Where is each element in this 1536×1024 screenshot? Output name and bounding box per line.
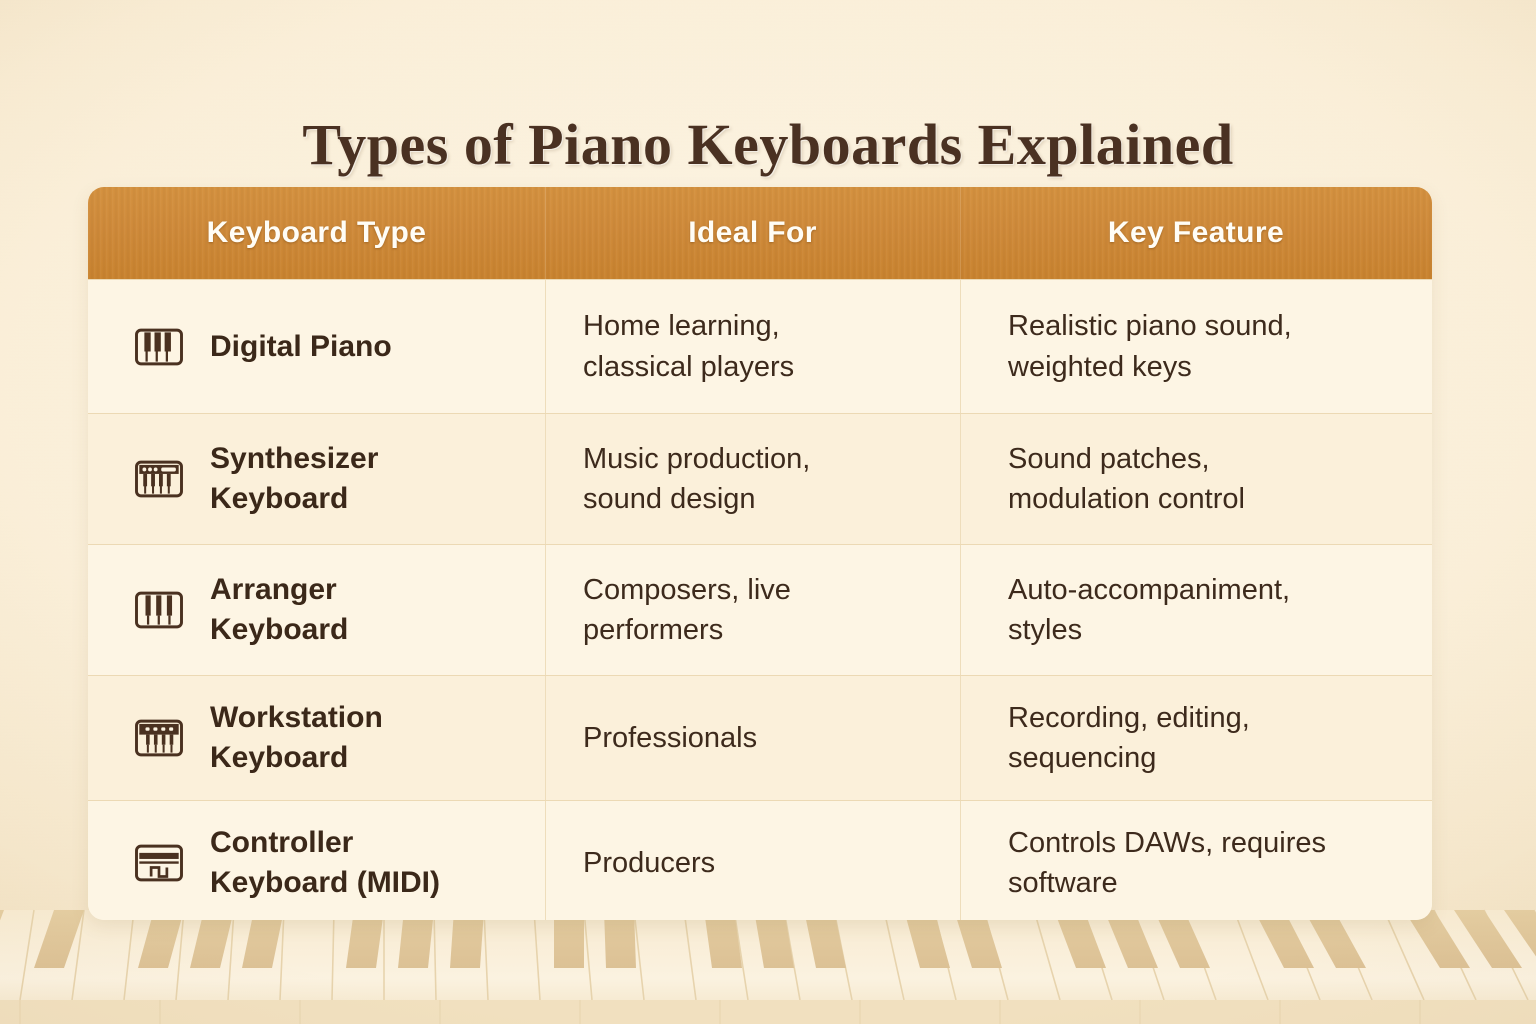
- cell-keyboard-type: Synthesizer Keyboard: [88, 414, 545, 544]
- table-row: Workstation Keyboard Professionals Recor…: [88, 675, 1432, 800]
- keyboard-type-label: Digital Piano: [210, 327, 392, 367]
- cell-divider-2: [960, 280, 961, 413]
- key-feature-text: Recording, editing, sequencing: [1008, 698, 1250, 778]
- page-title: Types of Piano Keyboards Explained: [0, 111, 1536, 178]
- table-row: Synthesizer Keyboard Music production, s…: [88, 413, 1432, 544]
- ideal-for-text: Home learning, classical players: [583, 306, 794, 386]
- cell-key-feature: Controls DAWs, requires software: [960, 801, 1432, 920]
- keyboard-type-label: Synthesizer Keyboard: [210, 439, 378, 518]
- cell-keyboard-type: Controller Keyboard (MIDI): [88, 801, 545, 920]
- cell-key-feature: Auto-accompaniment, styles: [960, 545, 1432, 675]
- table-row: Arranger Keyboard Composers, live perfor…: [88, 544, 1432, 675]
- cell-ideal-for: Producers: [545, 801, 960, 920]
- cell-divider-1: [545, 545, 546, 675]
- workstation-keyboard-icon: [132, 711, 186, 765]
- cell-divider-2: [960, 414, 961, 544]
- key-feature-text: Realistic piano sound, weighted keys: [1008, 306, 1292, 386]
- cell-ideal-for: Home learning, classical players: [545, 280, 960, 413]
- cell-keyboard-type: Digital Piano: [88, 280, 545, 413]
- cell-key-feature: Recording, editing, sequencing: [960, 676, 1432, 800]
- key-feature-text: Sound patches, modulation control: [1008, 439, 1245, 519]
- ideal-for-text: Professionals: [583, 718, 757, 758]
- keyboard-type-label: Arranger Keyboard: [210, 570, 348, 649]
- cell-divider-1: [545, 280, 546, 413]
- cell-ideal-for: Composers, live performers: [545, 545, 960, 675]
- cell-key-feature: Realistic piano sound, weighted keys: [960, 280, 1432, 413]
- cell-divider-2: [960, 801, 961, 920]
- column-header-ideal-for: Ideal For: [545, 187, 960, 279]
- table-header-row: Keyboard Type Ideal For Key Feature: [88, 187, 1432, 279]
- arranger-keyboard-icon: [132, 583, 186, 637]
- table-row: Controller Keyboard (MIDI) Producers Con…: [88, 800, 1432, 920]
- keyboard-type-label: Workstation Keyboard: [210, 698, 383, 777]
- ideal-for-text: Music production, sound design: [583, 439, 810, 519]
- piano-keyboard-icon: [132, 320, 186, 374]
- keyboard-type-label: Controller Keyboard (MIDI): [210, 823, 440, 902]
- cell-divider-1: [545, 801, 546, 920]
- cell-divider-1: [545, 414, 546, 544]
- key-feature-text: Auto-accompaniment, styles: [1008, 570, 1290, 650]
- key-feature-text: Controls DAWs, requires software: [1008, 823, 1326, 903]
- column-header-key-feature: Key Feature: [960, 187, 1432, 279]
- cell-keyboard-type: Arranger Keyboard: [88, 545, 545, 675]
- cell-key-feature: Sound patches, modulation control: [960, 414, 1432, 544]
- ideal-for-text: Producers: [583, 843, 715, 883]
- header-divider-1: [545, 187, 546, 279]
- table-row: Digital Piano Home learning, classical p…: [88, 279, 1432, 413]
- cell-divider-2: [960, 676, 961, 800]
- ideal-for-text: Composers, live performers: [583, 570, 791, 650]
- column-header-keyboard-type: Keyboard Type: [88, 187, 545, 279]
- cell-divider-1: [545, 676, 546, 800]
- header-divider-2: [960, 187, 961, 279]
- keyboard-types-table: Keyboard Type Ideal For Key Feature Digi…: [88, 187, 1432, 920]
- cell-ideal-for: Music production, sound design: [545, 414, 960, 544]
- cell-keyboard-type: Workstation Keyboard: [88, 676, 545, 800]
- midi-controller-icon: [132, 836, 186, 890]
- cell-ideal-for: Professionals: [545, 676, 960, 800]
- cell-divider-2: [960, 545, 961, 675]
- synthesizer-keyboard-icon: [132, 452, 186, 506]
